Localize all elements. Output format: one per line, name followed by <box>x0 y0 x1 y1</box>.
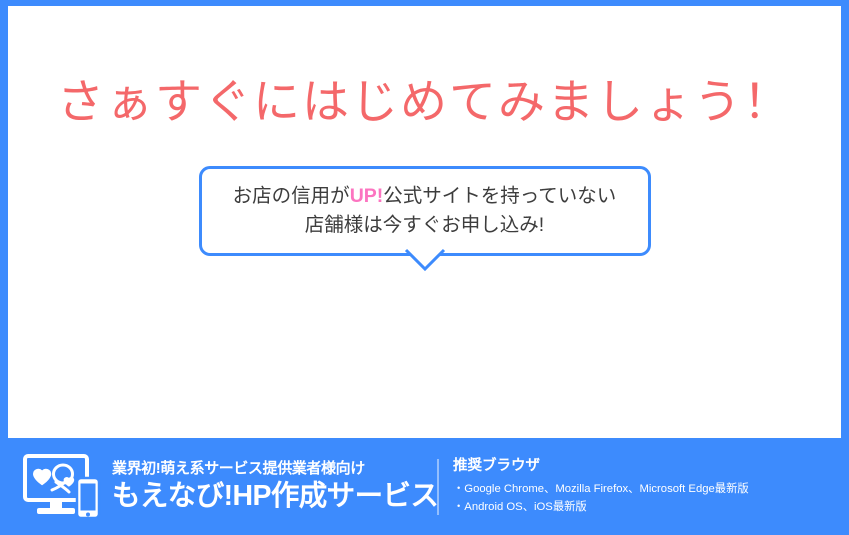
bubble-up-highlight: UP! <box>350 185 384 207</box>
brand-text-block: 業界初!萌え系サービス提供業者様向け もえなび!HP作成サービス <box>112 460 438 514</box>
speech-bubble-tail-icon <box>405 252 445 272</box>
browser-line-1: ・Google Chrome、Mozilla Firefox、Microsoft… <box>453 480 749 498</box>
recommended-browsers-block: 推奨ブラウザ ・Google Chrome、Mozilla Firefox、Mi… <box>439 457 749 516</box>
page-title: さぁすぐにはじめてみましょう！ <box>8 74 841 129</box>
page-frame: さぁすぐにはじめてみましょう！ お店の信用がUP!公式サイトを持っていない 店舗… <box>0 0 849 535</box>
footer-bar: 業界初!萌え系サービス提供業者様向け もえなび!HP作成サービス 推奨ブラウザ … <box>0 438 849 535</box>
monitor-phone-hearts-icon <box>22 454 106 520</box>
footer-brand-block: 業界初!萌え系サービス提供業者様向け もえなび!HP作成サービス <box>0 454 437 520</box>
bubble-line1-prefix: お店の信用が <box>233 185 350 207</box>
main-content-area: さぁすぐにはじめてみましょう！ お店の信用がUP!公式サイトを持っていない 店舗… <box>8 6 841 438</box>
brand-name: もえなび!HP作成サービス <box>112 480 438 513</box>
brand-tagline: 業界初!萌え系サービス提供業者様向け <box>112 460 438 479</box>
recommended-browsers-title: 推奨ブラウザ <box>453 457 749 476</box>
speech-bubble-container: お店の信用がUP!公式サイトを持っていない 店舗様は今すぐお申し込み! <box>8 166 841 256</box>
speech-bubble-text: お店の信用がUP!公式サイトを持っていない 店舗様は今すぐお申し込み! <box>233 182 617 240</box>
browser-line-2: ・Android OS、iOS最新版 <box>453 498 749 516</box>
speech-bubble: お店の信用がUP!公式サイトを持っていない 店舗様は今すぐお申し込み! <box>199 166 651 256</box>
bubble-line2: 店舗様は今すぐお申し込み! <box>305 214 544 236</box>
bubble-line1-suffix: 公式サイトを持っていない <box>383 185 616 207</box>
